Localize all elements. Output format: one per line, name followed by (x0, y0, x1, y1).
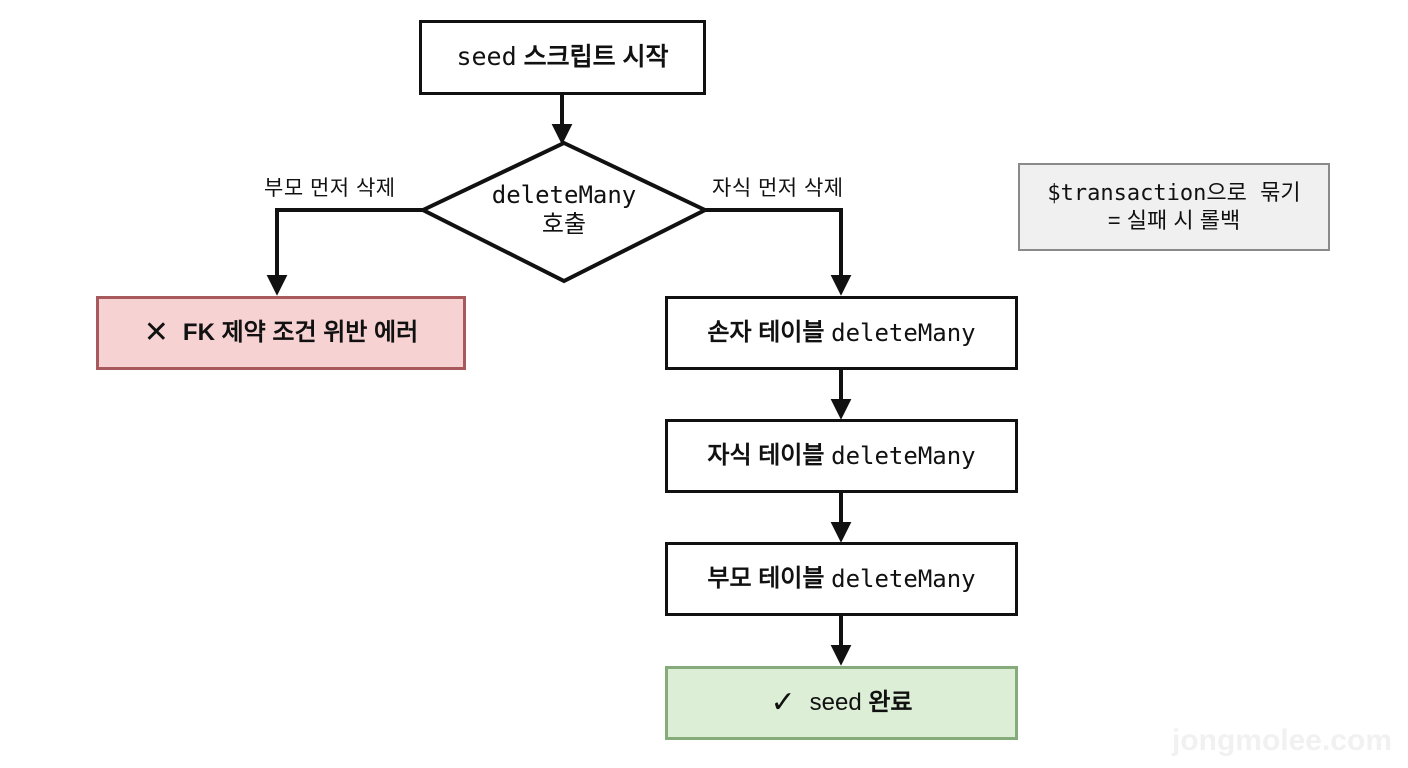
watermark: jongmolee.com (1172, 724, 1392, 758)
node-grandchild-ko: 손자 테이블 (707, 318, 824, 348)
node-seed-complete[interactable]: ✓ seed 완료 (665, 666, 1018, 740)
node-fk-error-label: FK 제약 조건 위반 에러 (183, 318, 418, 348)
node-start-ko: 스크립트 시작 (524, 43, 669, 71)
check-mark-icon: ✓ (770, 688, 795, 718)
node-child-deletemany[interactable]: 자식 테이블 deleteMany (665, 419, 1018, 493)
node-parent-ko: 부모 테이블 (707, 564, 824, 594)
node-parent-deletemany[interactable]: 부모 테이블 deleteMany (665, 542, 1018, 616)
cross-mark-icon: ✕ (144, 318, 169, 348)
node-transaction-note-line2: = 실패 시 롤백 (1108, 207, 1240, 235)
node-decision-line2: 호출 (423, 210, 705, 239)
node-start-label: seed 스크립트 시작 (456, 41, 668, 73)
node-start[interactable]: seed 스크립트 시작 (419, 20, 706, 95)
node-seed-complete-latin: seed (810, 688, 862, 718)
node-decision[interactable]: deleteMany 호출 (423, 181, 705, 240)
node-transaction-note: $transaction으로 묶기 = 실패 시 롤백 (1018, 163, 1330, 251)
edge-decision-to-grandchild (705, 210, 841, 292)
node-seed-complete-ko: 완료 (868, 688, 912, 718)
edge-label-parent-first: 부모 먼저 삭제 (264, 172, 396, 202)
edge-decision-to-error (277, 210, 423, 292)
node-parent-mono: deleteMany (831, 564, 976, 594)
flowchart-canvas: seed 스크립트 시작 deleteMany 호출 부모 먼저 삭제 자식 먼… (0, 0, 1408, 768)
node-child-ko: 자식 테이블 (707, 441, 824, 471)
node-fk-error[interactable]: ✕ FK 제약 조건 위반 에러 (96, 296, 466, 370)
node-transaction-note-line1: $transaction으로 묶기 (1047, 180, 1300, 208)
node-grandchild-deletemany[interactable]: 손자 테이블 deleteMany (665, 296, 1018, 370)
node-decision-line1: deleteMany (423, 181, 705, 210)
node-grandchild-mono: deleteMany (831, 318, 976, 348)
edge-label-child-first: 자식 먼저 삭제 (712, 172, 844, 202)
connector-layer (0, 0, 1408, 768)
node-start-latin: seed (456, 42, 516, 71)
node-child-mono: deleteMany (831, 441, 976, 471)
